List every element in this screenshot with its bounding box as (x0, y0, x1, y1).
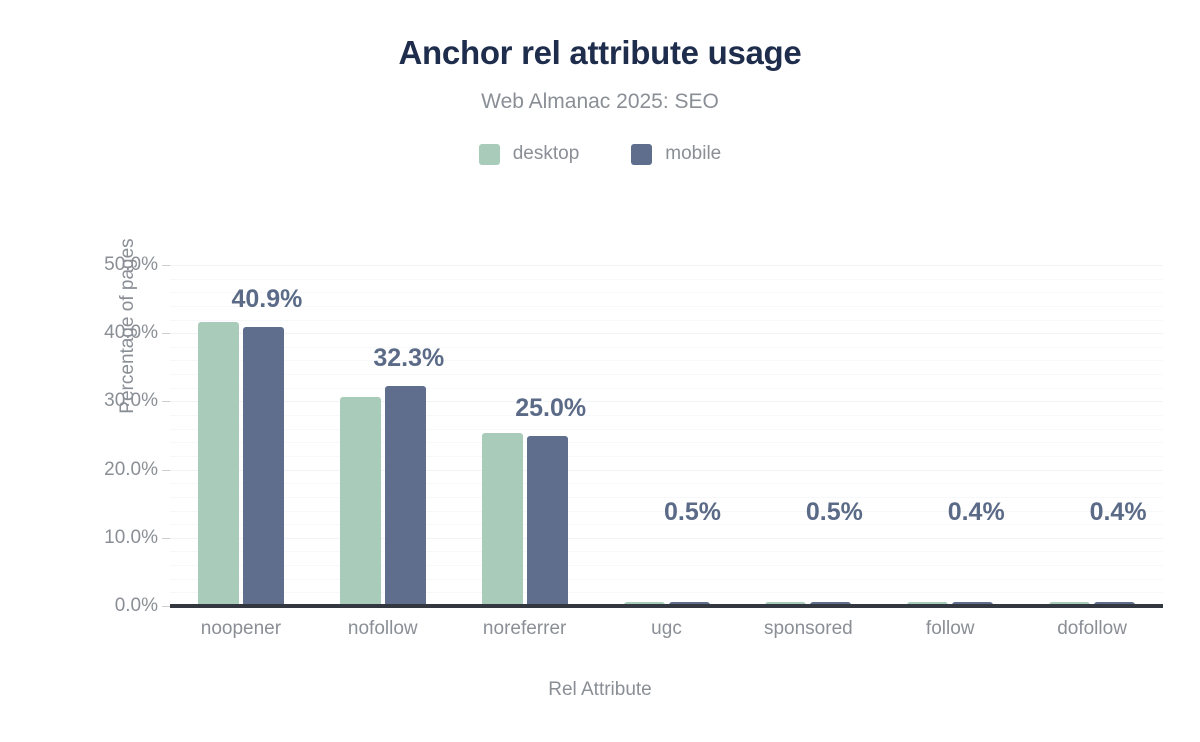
data-label-sponsored: 0.5% (806, 498, 863, 527)
legend-label: desktop (513, 143, 580, 165)
plot-area (170, 265, 1163, 606)
y-tick-label: 10.0% (38, 527, 158, 549)
x-tick-label-sponsored: sponsored (764, 618, 853, 640)
bar-group-noopener (198, 265, 284, 606)
x-tick-label-follow: follow (926, 618, 975, 640)
legend-label: mobile (665, 143, 721, 165)
x-tick-label-nofollow: nofollow (348, 618, 418, 640)
bar-mobile-noopener[interactable] (243, 327, 284, 606)
bar-group-noreferrer (482, 265, 568, 606)
bar-group-ugc (624, 265, 710, 606)
y-tick-mark (162, 606, 170, 607)
bar-desktop-noopener[interactable] (198, 322, 239, 606)
y-tick-mark (162, 265, 170, 266)
data-label-follow: 0.4% (948, 498, 1005, 527)
bar-group-follow (907, 265, 993, 606)
bar-group-sponsored (765, 265, 851, 606)
y-tick-mark (162, 538, 170, 539)
y-tick-mark (162, 470, 170, 471)
data-label-nofollow: 32.3% (373, 344, 444, 373)
y-tick-mark (162, 333, 170, 334)
x-axis-title: Rel Attribute (0, 679, 1200, 701)
bar-desktop-nofollow[interactable] (340, 397, 381, 606)
y-tick-label: 20.0% (38, 459, 158, 481)
y-tick-label: 40.0% (38, 322, 158, 344)
y-tick-label: 50.0% (38, 254, 158, 276)
chart-title: Anchor rel attribute usage (0, 34, 1200, 72)
data-label-ugc: 0.5% (664, 498, 721, 527)
bar-group-nofollow (340, 265, 426, 606)
y-tick-label: 0.0% (38, 595, 158, 617)
chart-legend: desktopmobile (0, 143, 1200, 165)
x-tick-label-noopener: noopener (201, 618, 281, 640)
y-tick-mark (162, 401, 170, 402)
x-tick-label-dofollow: dofollow (1057, 618, 1127, 640)
bar-desktop-noreferrer[interactable] (482, 433, 523, 606)
chart-subtitle: Web Almanac 2025: SEO (0, 90, 1200, 114)
y-tick-label: 30.0% (38, 390, 158, 412)
bar-mobile-nofollow[interactable] (385, 386, 426, 606)
chart-figure: Anchor rel attribute usage Web Almanac 2… (0, 0, 1200, 742)
x-tick-label-noreferrer: noreferrer (483, 618, 566, 640)
legend-swatch-mobile (631, 144, 652, 165)
data-label-noopener: 40.9% (231, 285, 302, 314)
x-tick-label-ugc: ugc (651, 618, 682, 640)
legend-item-mobile[interactable]: mobile (631, 143, 721, 165)
bar-group-dofollow (1049, 265, 1135, 606)
data-label-noreferrer: 25.0% (515, 394, 586, 423)
legend-item-desktop[interactable]: desktop (479, 143, 580, 165)
x-axis-line (170, 604, 1163, 608)
bar-mobile-noreferrer[interactable] (527, 436, 568, 607)
legend-swatch-desktop (479, 144, 500, 165)
data-label-dofollow: 0.4% (1090, 498, 1147, 527)
